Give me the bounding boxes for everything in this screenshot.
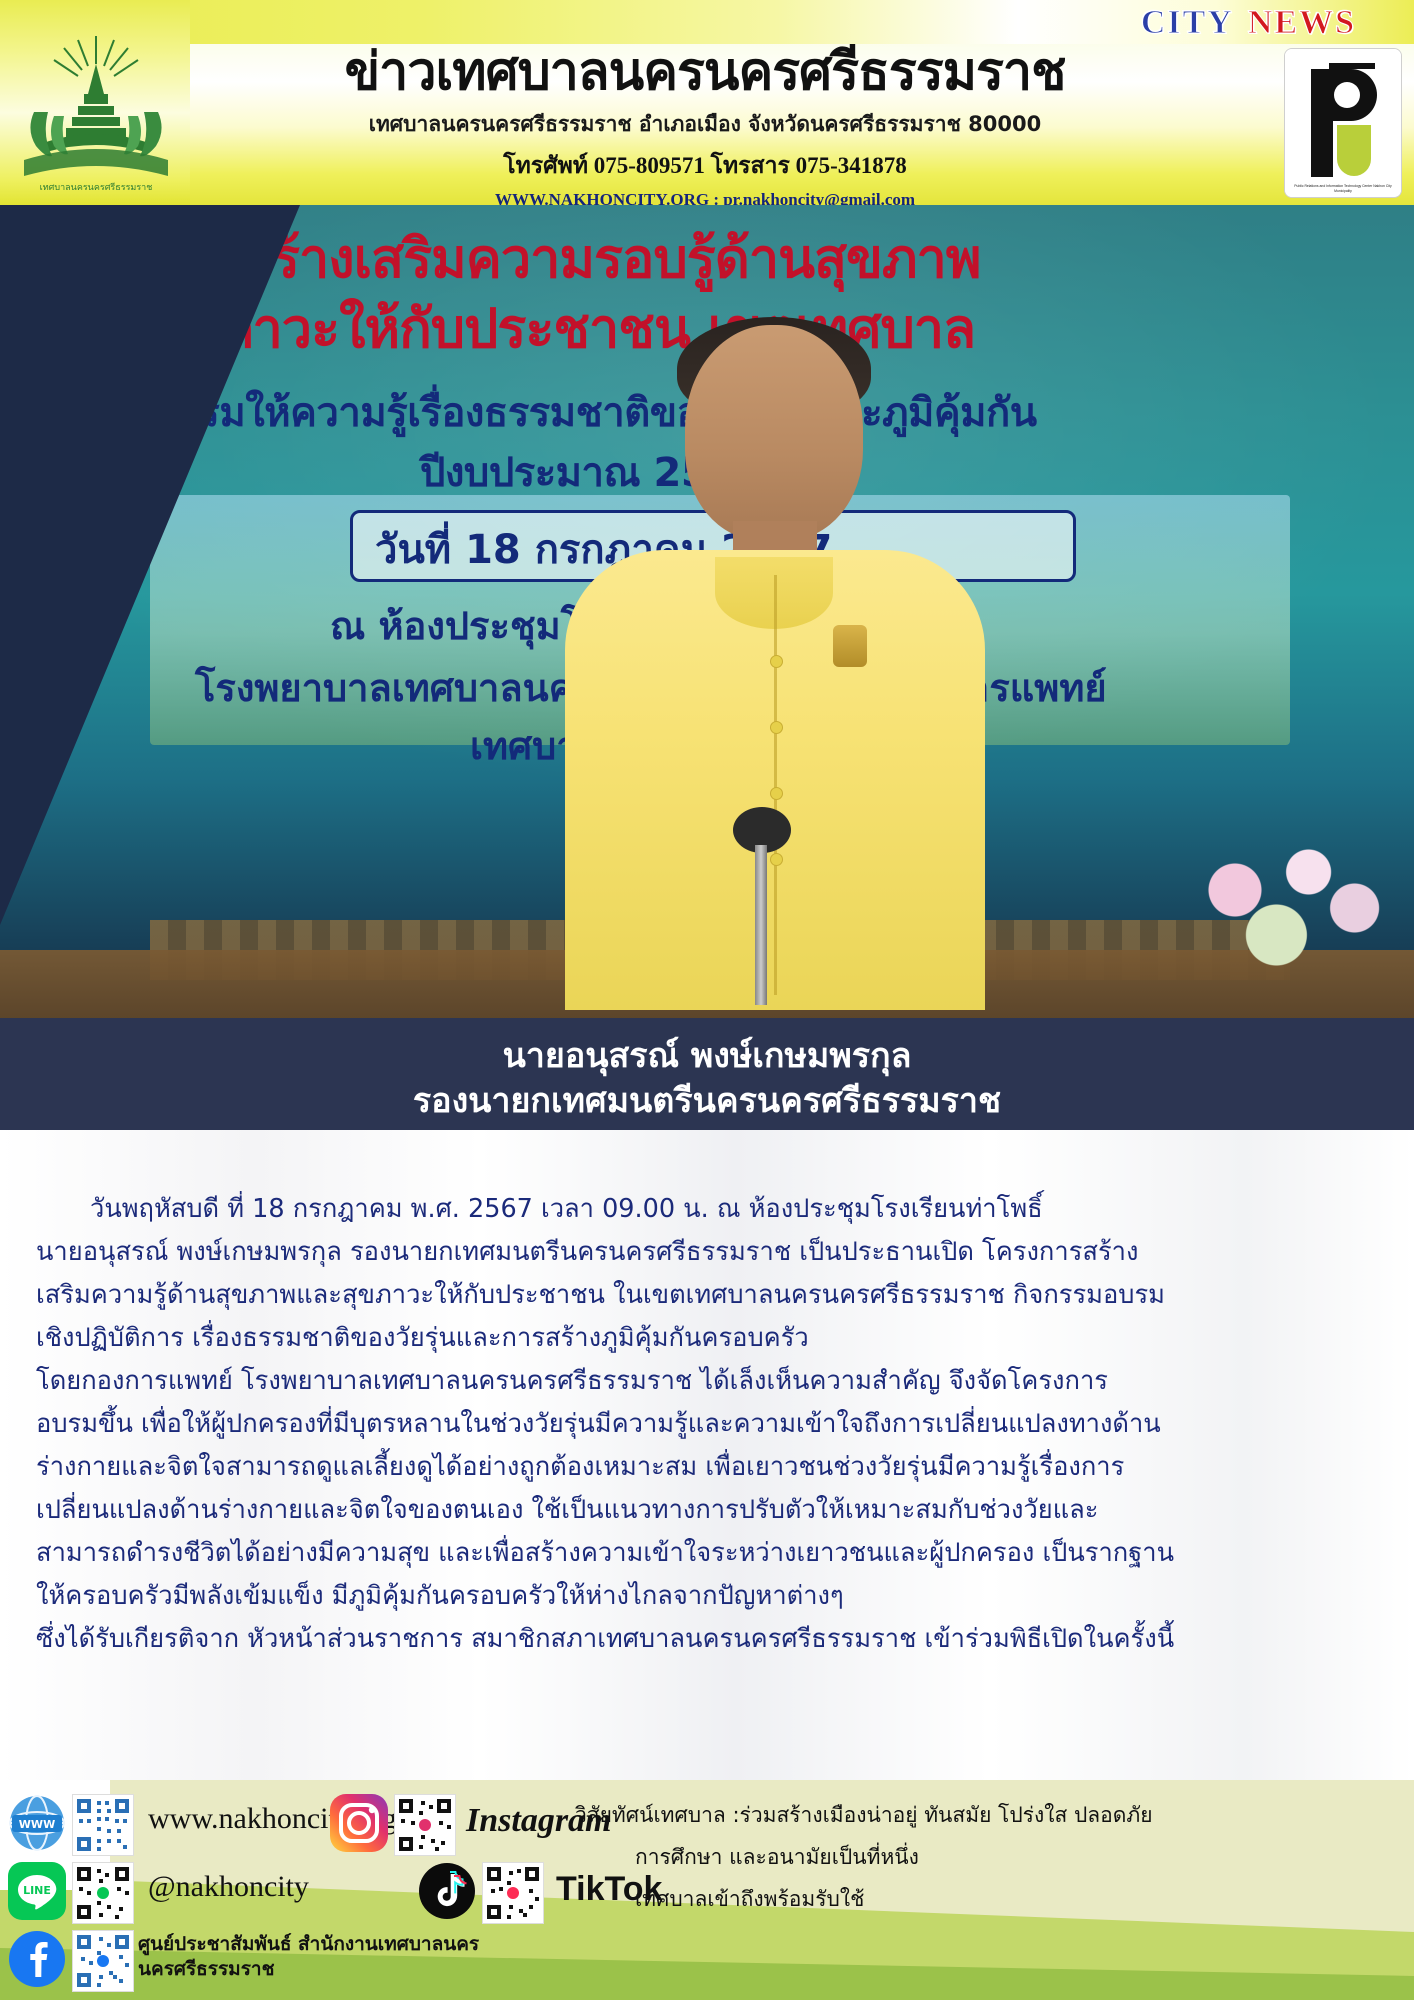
pr-logo-caption: Public Relations and Information Technol… (1285, 184, 1401, 194)
city-news-city-word: CITY (1141, 4, 1234, 41)
jacket-emblem (833, 625, 867, 667)
vision-statement: วิสัยทัศน์เทศบาล :ร่วมสร้างเมืองน่าอยู่ … (575, 1794, 1405, 1920)
svg-text:LINE: LINE (23, 1884, 51, 1897)
speaker-position: รองนายกเทศมนตรีนครนครศรีธรรมราช (0, 1073, 1414, 1127)
jacket-button (770, 853, 783, 866)
jacket-button (770, 787, 783, 800)
crest-label: เทศบาลนครนครศรีธรรมราช (40, 182, 153, 193)
vision-line-2: การศึกษา และอนามัยเป็นที่หนึ่ง (575, 1836, 1405, 1878)
pr-center-label-line2: นครศรีธรรมราช (138, 1957, 479, 1982)
qr-code-icon (72, 1794, 134, 1856)
qr-code-icon (72, 1930, 134, 1992)
tiktok-qr-code[interactable] (482, 1862, 544, 1924)
speaker-jacket-seam (774, 575, 777, 995)
article-line: ซึ่งได้รับเกียรติจาก หัวหน้าส่วนราชการ ส… (36, 1618, 1384, 1661)
jacket-button (770, 655, 783, 668)
article-line: อบรมขึ้น เพื่อให้ผู้ปกครองที่มีบุตรหลานใ… (36, 1403, 1384, 1446)
line-icon-cell[interactable]: LINE (8, 1862, 66, 1920)
speaker-figure (565, 325, 985, 1005)
header-title-block: ข่าวเทศบาลนครนครศรีธรรมราช เทศบาลนครนครศ… (190, 46, 1220, 205)
qr-code-icon (72, 1862, 134, 1924)
page-header: CITYNEWS (0, 0, 1414, 205)
facebook-icon-cell[interactable] (8, 1930, 66, 1988)
city-news-badge: CITYNEWS (1141, 4, 1356, 42)
microphone-stand (755, 845, 767, 1005)
article-line: ร่างกายและจิตใจสามารถดูแลเลี้ยงดูได้อย่า… (36, 1446, 1384, 1489)
facebook-icon (8, 1930, 66, 1988)
tiktok-icon (418, 1862, 476, 1920)
article-line: เปลี่ยนแปลงด้านร่างกายและจิตใจของตนเอง ใ… (36, 1489, 1384, 1532)
pr-department-logo: Public Relations and Information Technol… (1284, 48, 1402, 198)
globe-www-icon: WWW (8, 1794, 66, 1852)
facebook-qr-code[interactable] (72, 1930, 134, 1992)
vision-line-1: วิสัยทัศน์เทศบาล :ร่วมสร้างเมืองน่าอยู่ … (575, 1794, 1405, 1836)
article-line: เสริมความรู้ด้านสุขภาพและสุขภาวะให้กับปร… (36, 1274, 1384, 1317)
pr-center-label: ศูนย์ประชาสัมพันธ์ สำนักงานเทศบาลนคร นคร… (138, 1932, 479, 1982)
jacket-button (770, 721, 783, 734)
pr-center-label-line1: ศูนย์ประชาสัมพันธ์ สำนักงานเทศบาลนคร (138, 1932, 479, 1957)
qr-code-icon (482, 1862, 544, 1924)
header-telephone: โทรศัพท์ 075-809571 โทรสาร 075-341878 (190, 148, 1220, 184)
article-paragraphs: วันพฤหัสบดี ที่ 18 กรกฎาคม พ.ศ. 2567 เวล… (36, 1188, 1384, 1661)
vision-line-3: เทศบาลเข้าถึงพร้อมรับใช้ (575, 1878, 1405, 1920)
news-poster: CITYNEWS (0, 0, 1414, 2000)
article-line: โดยกองการแพทย์ โรงพยาบาลเทศบาลนครนครศรีธ… (36, 1360, 1384, 1403)
article-line: สามารถดำรงชีวิตได้อย่างมีความสุข และเพื่… (36, 1532, 1384, 1575)
qr-code-icon (394, 1794, 456, 1856)
city-news-news-word: NEWS (1248, 4, 1356, 41)
line-id-label[interactable]: @nakhoncity (148, 1870, 309, 1904)
page-footer: WWW www.nakhoncity.org (0, 1780, 1414, 2000)
speaker-head (685, 325, 863, 540)
header-address: เทศบาลนครนครศรีธรรมราช อำเภอเมือง จังหวั… (190, 108, 1220, 141)
instagram-icon (330, 1794, 388, 1852)
tiktok-icon-cell[interactable] (418, 1862, 476, 1920)
article-line: ให้ครอบครัวมีพลังเข้มแข็ง มีภูมิคุ้มกันค… (36, 1575, 1384, 1618)
flower-arrangement (1166, 830, 1396, 980)
instagram-qr-code[interactable] (394, 1794, 456, 1856)
article-line: นายอนุสรณ์ พงษ์เกษมพรกุล รองนายกเทศมนตรี… (36, 1231, 1384, 1274)
line-icon: LINE (8, 1862, 66, 1920)
page-title: ข่าวเทศบาลนครนครศรีธรรมราช (190, 46, 1220, 99)
photo-caption-bar: นายอนุสรณ์ พงษ์เกษมพรกุล รองนายกเทศมนตรี… (0, 1018, 1414, 1130)
article-line: เชิงปฏิบัติการ เรื่องธรรมชาติของวัยรุ่นแ… (36, 1317, 1384, 1360)
svg-text:WWW: WWW (19, 1818, 55, 1831)
instagram-icon-cell[interactable] (330, 1794, 388, 1852)
event-photo: การสร้างเสริมความรอบรู้ด้านสุขภาพ สุขภาว… (0, 205, 1414, 1130)
website-qr-code[interactable] (72, 1794, 134, 1856)
article-line: วันพฤหัสบดี ที่ 18 กรกฎาคม พ.ศ. 2567 เวล… (36, 1188, 1384, 1231)
article-body: วันพฤหัสบดี ที่ 18 กรกฎาคม พ.ศ. 2567 เวล… (0, 1130, 1414, 1780)
line-qr-code[interactable] (72, 1862, 134, 1924)
website-icon-cell[interactable]: WWW (8, 1794, 66, 1852)
header-website-email: WWW.NAKHONCITY.ORG : pr.nakhoncity@gmail… (190, 190, 1220, 205)
municipal-crest-icon: เทศบาลนครนครศรีธรรมราช (6, 24, 186, 202)
